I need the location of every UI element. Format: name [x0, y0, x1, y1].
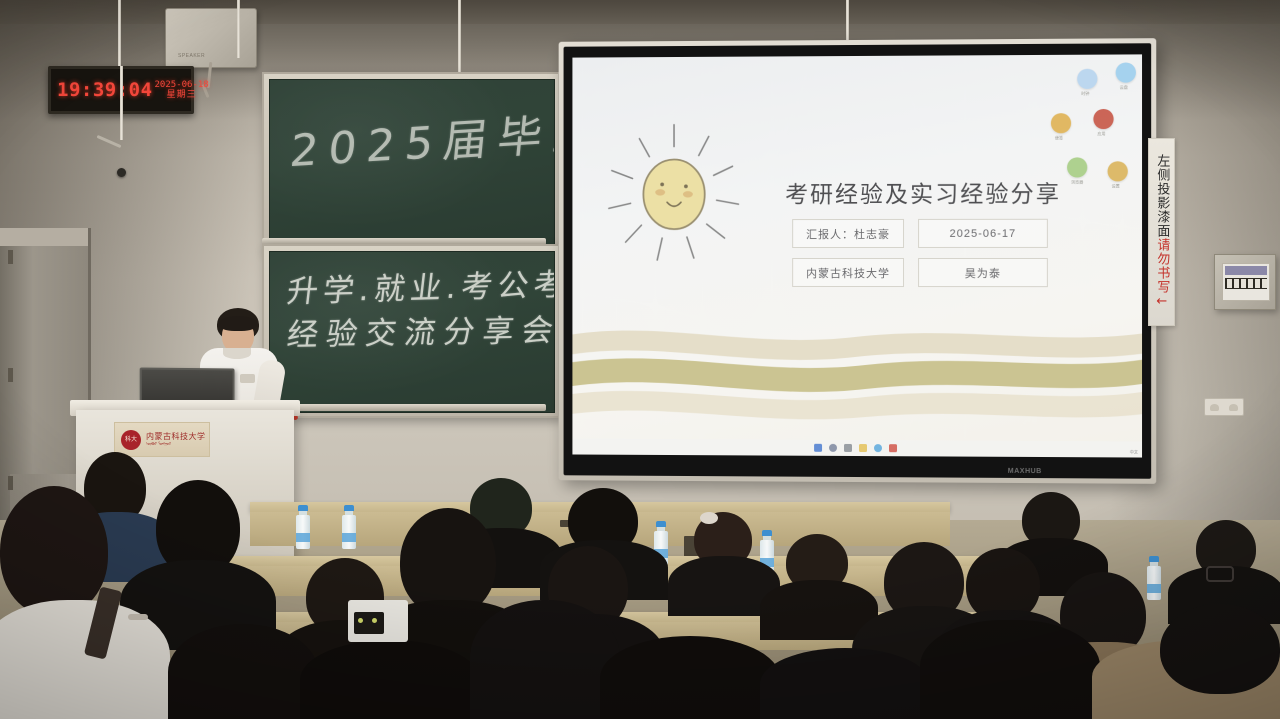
water-bottle: [1147, 556, 1161, 593]
chalkboard-upper-surface: 2025届毕业生: [269, 79, 555, 247]
ceiling-rod-left: [118, 0, 121, 66]
clock-time: 19:39:04: [57, 79, 153, 101]
display-bezel: MAXHUB: [564, 43, 1152, 479]
panel-breaker-row: [1225, 278, 1267, 289]
chalk-tray-lower: [262, 404, 546, 411]
breaker-switch[interactable]: [1262, 279, 1267, 288]
note-icon[interactable]: [1051, 113, 1071, 133]
panel-busbar: [1225, 266, 1267, 275]
breaker-switch[interactable]: [1241, 279, 1246, 288]
task-view-icon[interactable]: [844, 444, 852, 452]
chalkboard-lower-surface: 升学.就业.考公考编 经验交流分享会: [269, 251, 555, 413]
chalk-text-graduates: 2025届毕业生: [287, 93, 555, 179]
ceiling-rod-mid: [237, 0, 240, 58]
slide-info-university: 内蒙古科技大学: [792, 258, 904, 287]
audience-head-foreground: [1160, 604, 1280, 694]
door-hinge-top: [8, 250, 13, 264]
system-tray[interactable]: 中文: [1130, 449, 1138, 455]
audience-head-foreground: [920, 620, 1100, 719]
smiling-sun-icon: [600, 118, 748, 268]
sticker-eye-icon: [372, 618, 377, 623]
ceiling-rod-screen: [846, 0, 849, 40]
breaker-switch[interactable]: [1227, 279, 1232, 288]
clock-icon[interactable]: [1077, 69, 1097, 89]
university-plaque: 科大 内蒙古科技大学 ᠥᠪᠥᠷ ᠮᠣᠩᠭᠤᠯ: [114, 422, 210, 457]
browser-globe-icon[interactable]: [1067, 157, 1087, 177]
microphone-head-icon: [117, 168, 126, 177]
note-icon-label: 便签: [1055, 135, 1063, 141]
chalkboard-upper: 2025届毕业生: [262, 72, 560, 252]
clock-weekday: 星期三: [167, 90, 197, 99]
settings-icon[interactable]: [1108, 161, 1128, 181]
slide-wave-decoration: [572, 319, 1142, 426]
laptop-sticker: [354, 612, 384, 634]
slide-title: 考研经验及实习经验分享: [785, 175, 1061, 210]
eyeglasses-icon: [1206, 566, 1234, 582]
chalk-text-line1: 升学.就业.考公考编: [285, 258, 555, 311]
start-icon[interactable]: [814, 444, 822, 452]
wall-warning-sign: 左侧投影漆面请勿书写←: [1148, 138, 1175, 326]
audience-head-foreground: [600, 636, 780, 719]
water-bottle: [760, 530, 774, 567]
electrical-panel[interactable]: [1214, 254, 1276, 310]
water-bottle: [342, 505, 356, 542]
apps-grid-icon-label: 应用: [1097, 131, 1105, 137]
hair-clip-icon: [700, 512, 718, 524]
university-seal-icon: 科大: [121, 430, 141, 450]
tray-language: 中文: [1130, 449, 1138, 455]
audience-head-foreground: [300, 640, 480, 719]
display-brand-logo: MAXHUB: [1008, 468, 1042, 475]
file-explorer-icon[interactable]: [858, 444, 866, 452]
electrical-panel-face: [1222, 263, 1270, 301]
cloud-icon[interactable]: [1116, 62, 1136, 82]
display-screen[interactable]: 考研经验及实习经验分享 汇报人：杜志豪 2025-06-17 内蒙古科技大学 昊…: [572, 54, 1142, 457]
lecture-hall-scene: SPEAKER 19:39:04 2025-06-18 星期三 2025届毕业生…: [0, 0, 1280, 719]
browser-icon[interactable]: [873, 444, 881, 452]
wall-sign-black-text: 左侧投影漆面: [1154, 154, 1169, 238]
windows-taskbar[interactable]: 中文: [572, 439, 1142, 458]
wall-mounted-speaker-box: SPEAKER: [165, 8, 257, 68]
cloud-icon-label: 云盘: [1120, 85, 1128, 91]
wall-sign-red-text: 请勿书写←: [1154, 238, 1169, 310]
settings-icon-label: 设置: [1112, 183, 1120, 189]
presenter-fringe: [219, 316, 257, 331]
clock-icon-label: 时钟: [1081, 91, 1089, 97]
smart-display[interactable]: MAXHUB: [559, 38, 1157, 484]
breaker-switch[interactable]: [1255, 279, 1260, 288]
slide-info-date: 2025-06-17: [918, 219, 1048, 248]
water-bottle: [296, 505, 310, 542]
wall-sign-text: 左侧投影漆面请勿书写←: [1155, 154, 1169, 310]
sticker-eye-icon: [358, 618, 363, 623]
door-lintel: [0, 228, 88, 246]
breaker-switch[interactable]: [1248, 279, 1253, 288]
outlet-socket: [1229, 404, 1238, 411]
presenter-shirt-logo: [240, 374, 255, 383]
search-icon[interactable]: [829, 444, 837, 452]
audience-head-foreground: [168, 624, 318, 719]
chalk-text-line2: 经验交流分享会: [285, 305, 555, 355]
door-hinge-bottom: [8, 476, 13, 490]
university-name-mn: ᠥᠪᠥᠷ ᠮᠣᠩᠭᠤᠯ: [146, 442, 206, 446]
door-hinge-mid: [8, 368, 13, 382]
slide-info-company: 昊为泰: [918, 258, 1048, 287]
app-red-icon[interactable]: [889, 444, 897, 452]
outlet-socket: [1210, 404, 1219, 411]
browser-globe-icon-label: 浏览器: [1071, 179, 1083, 185]
wall-box-label: SPEAKER: [178, 53, 205, 59]
chalkboard-lower: 升学.就业.考公考编 经验交流分享会: [262, 244, 560, 418]
apps-grid-icon[interactable]: [1093, 109, 1113, 129]
audience-head-foreground: [0, 486, 108, 616]
breaker-switch[interactable]: [1234, 279, 1239, 288]
slide-info-presenter: 汇报人：杜志豪: [792, 219, 904, 248]
wall-power-outlet[interactable]: [1204, 398, 1244, 416]
audience-head-foreground: [470, 600, 620, 719]
audience-head-foreground: [760, 648, 930, 719]
bracelet-icon: [128, 614, 148, 620]
desktop-icon-column[interactable]: 时钟 云盘 便签 应用 浏览器 设置: [1051, 62, 1138, 213]
presenter-collar: [223, 348, 251, 359]
mic-stem: [120, 66, 123, 140]
